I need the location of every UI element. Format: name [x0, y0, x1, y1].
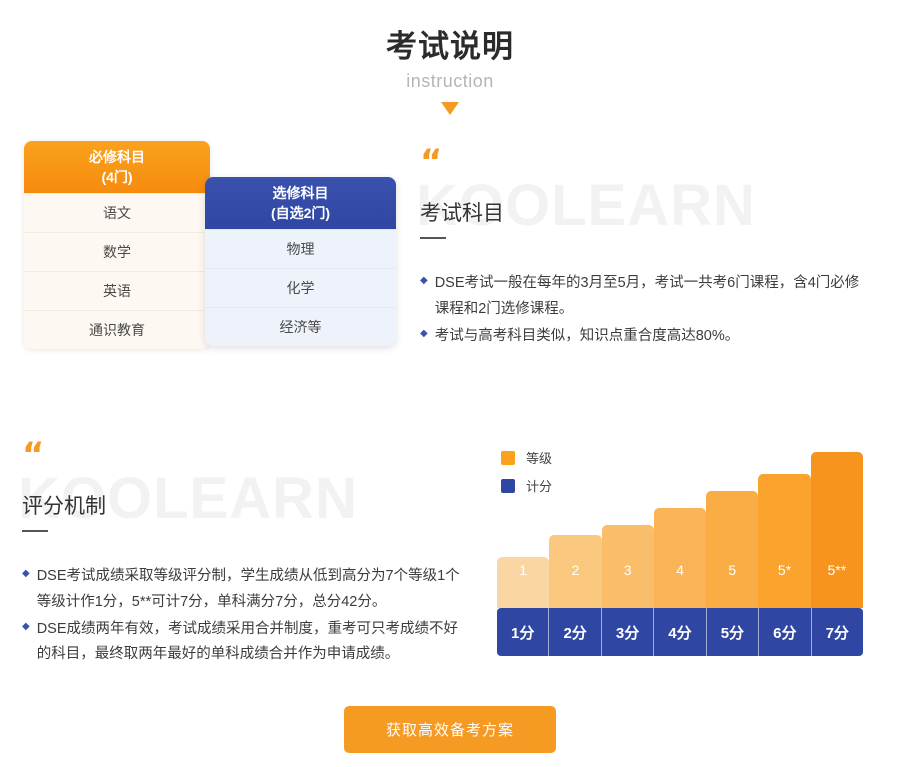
- chart-axis-label: 2分: [548, 608, 600, 656]
- elective-subjects-column: 选修科目 (自选2门) 物理 化学 经济等: [205, 177, 396, 346]
- elective-subjects-header: 选修科目 (自选2门): [205, 177, 396, 229]
- chart-bar: 3: [602, 525, 654, 608]
- exam-subjects-bullets: ◆ DSE考试一般在每年的3月至5月，考试一共考6门课程，含4门必修课程和2门选…: [420, 271, 870, 349]
- legend-label: 等级: [526, 448, 552, 467]
- heading-underline: [420, 237, 446, 239]
- list-item: ◆ DSE成绩两年有效，考试成绩采用合并制度，重考可只考成绩不好的科目，最终取两…: [22, 617, 462, 668]
- list-item: ◆ 考试与高考科目类似，知识点重合度高达80%。: [420, 324, 870, 349]
- chart-bar-label: 3: [624, 562, 632, 608]
- subject-table: 必修科目 (4门) 语文 数学 英语 通识教育 选修科目 (自选2门) 物理 化…: [24, 141, 396, 346]
- scoring-section: “ KOOLEARN 评分机制 ◆ DSE考试成绩采取等级评分制，学生成绩从低到…: [0, 444, 900, 684]
- chart-bar-label: 2: [572, 562, 580, 608]
- legend-swatch-icon: [501, 451, 515, 465]
- chart-bar-label: 5*: [778, 562, 791, 608]
- exam-subjects-section: 必修科目 (4门) 语文 数学 英语 通识教育 选修科目 (自选2门) 物理 化…: [0, 141, 900, 366]
- list-item-text: 考试与高考科目类似，知识点重合度高达80%。: [435, 324, 870, 349]
- chart-bar: 5**: [811, 452, 863, 608]
- scoring-bullets: ◆ DSE考试成绩采取等级评分制，学生成绩从低到高分为7个等级1个等级计作1分，…: [22, 564, 462, 668]
- chart-axis-label: 4分: [653, 608, 705, 656]
- table-row: 经济等: [205, 307, 396, 346]
- table-row: 英语: [24, 271, 210, 310]
- chart-bar: 2: [549, 535, 601, 608]
- chart-axis-label: 3分: [601, 608, 653, 656]
- chart-axis-label: 6分: [758, 608, 810, 656]
- scoring-info: “ KOOLEARN 评分机制 ◆ DSE考试成绩采取等级评分制，学生成绩从低到…: [22, 444, 462, 670]
- page-subtitle: instruction: [0, 71, 900, 92]
- diamond-bullet-icon: ◆: [22, 564, 30, 615]
- get-study-plan-button[interactable]: 获取高效备考方案: [344, 706, 556, 753]
- diamond-bullet-icon: ◆: [420, 271, 428, 322]
- legend-entry-score: 计分: [501, 476, 552, 495]
- exam-subjects-info: “ KOOLEARN 考试科目 ◆ DSE考试一般在每年的3月至5月，考试一共考…: [420, 151, 870, 351]
- chart-axis-label: 5分: [706, 608, 758, 656]
- elective-subjects-title: 选修科目: [273, 183, 329, 203]
- chart-axis-row: 1分2分3分4分5分6分7分: [497, 608, 863, 656]
- scoring-heading: 评分机制: [22, 480, 462, 517]
- required-subjects-count: (4门): [101, 167, 132, 187]
- required-subjects-header: 必修科目 (4门): [24, 141, 210, 193]
- chart-bar-label: 4: [676, 562, 684, 608]
- chart-bar: 5*: [758, 474, 810, 608]
- chart-legend: 等级 计分: [501, 448, 552, 504]
- chart-bar: 4: [654, 508, 706, 608]
- elective-subjects-count: (自选2门): [271, 203, 330, 223]
- quote-mark-icon: “: [420, 151, 870, 173]
- triangle-down-icon: [441, 102, 459, 115]
- exam-subjects-heading-wrap: KOOLEARN 考试科目: [420, 187, 870, 249]
- list-item: ◆ DSE考试成绩采取等级评分制，学生成绩从低到高分为7个等级1个等级计作1分，…: [22, 564, 462, 615]
- list-item-text: DSE成绩两年有效，考试成绩采用合并制度，重考可只考成绩不好的科目，最终取两年最…: [37, 617, 462, 668]
- heading-underline: [22, 530, 48, 532]
- scoring-heading-wrap: KOOLEARN 评分机制: [22, 480, 462, 542]
- exam-subjects-heading: 考试科目: [420, 187, 870, 224]
- list-item: ◆ DSE考试一般在每年的3月至5月，考试一共考6门课程，含4门必修课程和2门选…: [420, 271, 870, 322]
- page-header: 考试说明 instruction: [0, 0, 900, 115]
- legend-entry-grade: 等级: [501, 448, 552, 467]
- legend-label: 计分: [526, 476, 552, 495]
- grade-score-bar-chart: 等级 计分 123455*5** 1分2分3分4分5分6分7分: [497, 444, 863, 656]
- chart-bar-label: 5: [728, 562, 736, 608]
- table-row: 物理: [205, 229, 396, 268]
- chart-axis-label: 1分: [497, 608, 548, 656]
- required-subjects-column: 必修科目 (4门) 语文 数学 英语 通识教育: [24, 141, 210, 349]
- legend-swatch-icon: [501, 479, 515, 493]
- chart-bar-label: 1: [519, 562, 527, 608]
- required-subjects-title: 必修科目: [89, 147, 145, 167]
- diamond-bullet-icon: ◆: [420, 324, 428, 349]
- quote-mark-icon: “: [22, 444, 462, 466]
- table-row: 通识教育: [24, 310, 210, 349]
- chart-axis-label: 7分: [811, 608, 863, 656]
- table-row: 化学: [205, 268, 396, 307]
- chart-bar-label: 5**: [827, 562, 846, 608]
- chart-bar: 5: [706, 491, 758, 608]
- table-row: 语文: [24, 193, 210, 232]
- list-item-text: DSE考试一般在每年的3月至5月，考试一共考6门课程，含4门必修课程和2门选修课…: [435, 271, 870, 322]
- list-item-text: DSE考试成绩采取等级评分制，学生成绩从低到高分为7个等级1个等级计作1分，5*…: [37, 564, 462, 615]
- diamond-bullet-icon: ◆: [22, 617, 30, 668]
- table-row: 数学: [24, 232, 210, 271]
- cta-container: 获取高效备考方案: [0, 706, 900, 753]
- page-title: 考试说明: [0, 28, 900, 65]
- chart-bar: 1: [497, 557, 549, 608]
